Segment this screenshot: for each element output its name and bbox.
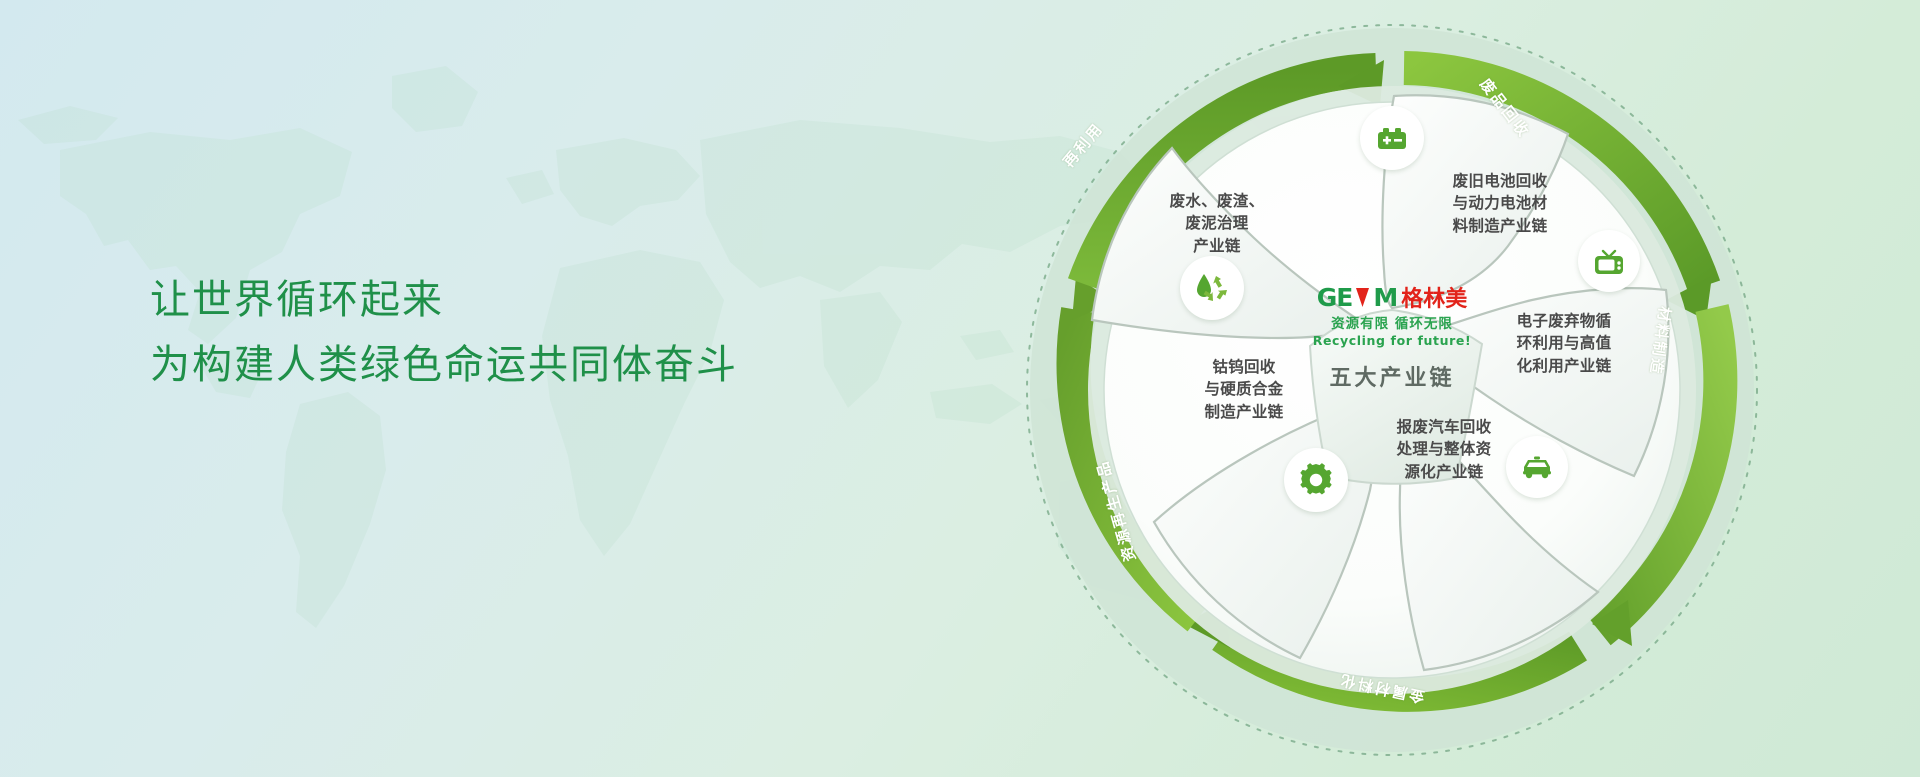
- segment-label-ewaste: 电子废弃物循 环利用与高值 化利用产业链: [1474, 310, 1654, 377]
- headline-block: 让世界循环起来 为构建人类绿色命运共同体奋斗: [150, 268, 910, 398]
- logo-triangle-icon: [1356, 288, 1369, 307]
- gem-logo: GE M 格林美 资源有限 循环无限 Recycling for future!: [1277, 284, 1507, 348]
- logo-slogan-en: Recycling for future!: [1277, 333, 1507, 348]
- battery-icon-bubble[interactable]: [1360, 106, 1424, 170]
- logo-wordmark-tail: M: [1373, 283, 1397, 312]
- water-recycle-icon: [1192, 269, 1232, 307]
- gear-icon-bubble[interactable]: [1284, 448, 1348, 512]
- logo-slogan-cn: 资源有限 循环无限: [1277, 312, 1507, 332]
- television-icon: [1591, 243, 1627, 279]
- car-icon: [1519, 449, 1555, 485]
- headline-line-1: 让世界循环起来: [150, 268, 910, 333]
- car-icon-bubble[interactable]: [1506, 436, 1568, 498]
- television-icon-bubble[interactable]: [1578, 230, 1640, 292]
- logo-chinese-name: 格林美: [1401, 281, 1467, 313]
- five-industry-chain-diagram: GE M 格林美 资源有限 循环无限 Recycling for future!…: [1012, 8, 1912, 770]
- gear-icon: [1297, 461, 1335, 499]
- water-recycle-icon-bubble[interactable]: [1180, 256, 1244, 320]
- logo-wordmark: GE: [1317, 283, 1353, 312]
- segment-label-water: 废水、废渣、 废泥治理 产业链: [1132, 190, 1302, 257]
- headline-line-2: 为构建人类绿色命运共同体奋斗: [150, 333, 910, 398]
- segment-label-cobalt: 钴钨回收 与硬质合金 制造产业链: [1154, 356, 1334, 423]
- battery-icon: [1374, 120, 1410, 156]
- segment-label-battery: 废旧电池回收 与动力电池材 料制造产业链: [1410, 170, 1590, 237]
